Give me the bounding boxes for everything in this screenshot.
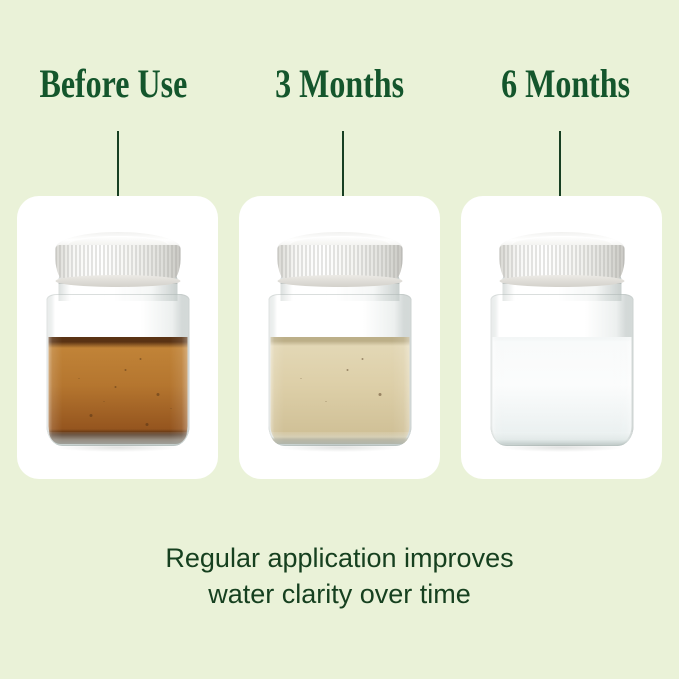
water-speck — [326, 401, 327, 402]
jar-lid-bottom-edge — [55, 275, 180, 287]
stage-heading-before-use: Before Use — [39, 64, 187, 104]
jar-card-6-months — [461, 196, 662, 479]
heading-cell-3-months: 3 Months — [226, 52, 452, 116]
jar-drop-shadow — [58, 443, 178, 452]
jar-water-fill — [270, 337, 409, 444]
water-speck — [145, 423, 148, 426]
water-speck — [378, 393, 381, 396]
water-speck — [90, 414, 93, 417]
water-clarity-infographic: Before Use 3 Months 6 Months — [0, 0, 679, 679]
caption-block: Regular application improves water clari… — [0, 540, 679, 612]
jar-water-surface-scum — [270, 337, 409, 346]
jar-water-specks — [492, 337, 631, 444]
caption-line-1: Regular application improves — [0, 540, 679, 576]
caption-line-2: water clarity over time — [0, 576, 679, 612]
heading-cell-before-use: Before Use — [0, 52, 226, 116]
jar-water-fill — [48, 337, 187, 444]
jar-drop-shadow — [502, 443, 622, 452]
jar-glass-body — [268, 274, 411, 446]
jar-lid-bottom-edge — [277, 275, 402, 287]
mason-jar-3-months — [268, 232, 411, 446]
mason-jar-6-months — [490, 232, 633, 446]
water-speck — [362, 358, 364, 360]
jar-water-specks — [48, 337, 187, 444]
water-speck — [79, 378, 80, 379]
water-speck — [346, 369, 348, 371]
water-speck — [140, 358, 142, 360]
jar-water-surface-scum — [492, 337, 631, 342]
water-speck — [124, 369, 126, 371]
jar-water-specks — [270, 337, 409, 444]
jar-card-3-months — [239, 196, 440, 479]
stage-heading-6-months: 6 Months — [501, 64, 630, 104]
mason-jar-before-use — [46, 232, 189, 446]
jar-lid-icon — [55, 232, 180, 284]
water-speck — [170, 408, 171, 409]
water-speck — [115, 386, 117, 388]
jar-water-sediment — [48, 429, 187, 444]
water-speck — [104, 401, 105, 402]
stage-headings-row: Before Use 3 Months 6 Months — [0, 52, 679, 116]
heading-cell-6-months: 6 Months — [453, 52, 679, 116]
jar-water-fill — [492, 337, 631, 444]
jar-glass-body — [46, 274, 189, 446]
water-speck — [301, 378, 302, 379]
jar-lid-icon — [277, 232, 402, 284]
jar-lid-icon — [499, 232, 624, 284]
jar-lid-bottom-edge — [499, 275, 624, 287]
jar-card-before-use — [17, 196, 218, 479]
jar-body — [46, 294, 189, 446]
water-speck — [156, 393, 159, 396]
jar-drop-shadow — [280, 443, 400, 452]
jar-water-surface-scum — [48, 337, 187, 348]
jar-body — [268, 294, 411, 446]
jar-body — [490, 294, 633, 446]
jar-glass-body — [490, 274, 633, 446]
stage-heading-3-months: 3 Months — [275, 64, 404, 104]
jar-cards-row — [17, 196, 662, 479]
